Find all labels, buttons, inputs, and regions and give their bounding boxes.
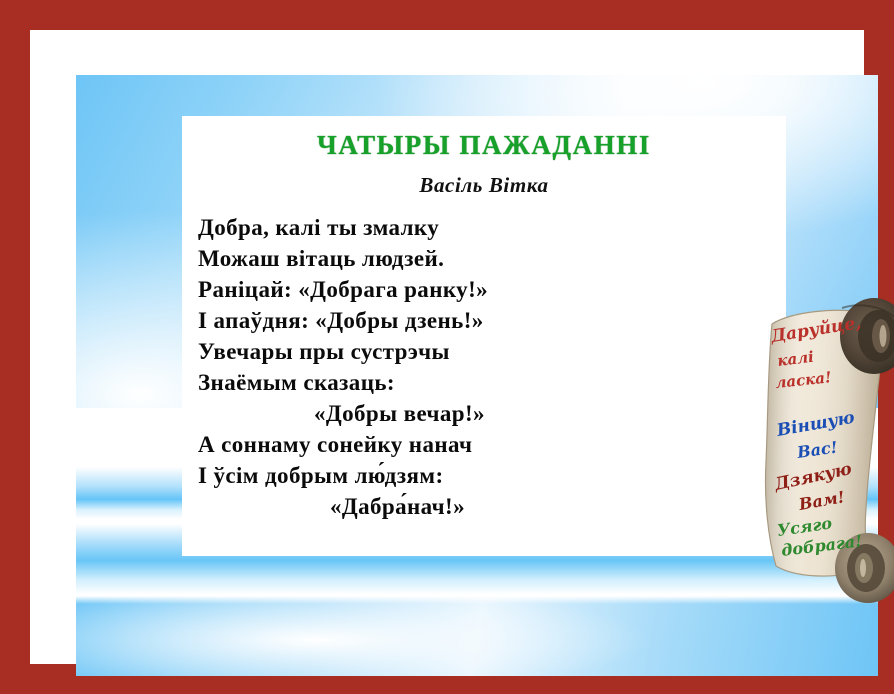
author-name: Васіль Вітка [182, 173, 786, 198]
poem-line: І апаўдня: «Добры дзень!» [198, 305, 618, 336]
outer-red-border: ЧАТЫРЫ ПАЖАДАННІ Васіль Вітка Добра, кал… [0, 0, 894, 694]
poem-line: Раніцай: «Добрага ранку!» [198, 274, 618, 305]
poem-text: Добра, калі ты змалку Можаш вітаць людзе… [198, 212, 618, 522]
poem-line: Можаш вітаць людзей. [198, 243, 618, 274]
poem-line: «Добры вечар!» [198, 398, 618, 429]
inner-white-margin: ЧАТЫРЫ ПАЖАДАННІ Васіль Вітка Добра, кал… [30, 30, 864, 664]
poem-card: ЧАТЫРЫ ПАЖАДАННІ Васіль Вітка Добра, кал… [182, 116, 786, 556]
poem-line: І ўсім добрым лю́дзям: [198, 460, 618, 491]
poem-line: Знаёмым сказаць: [198, 367, 618, 398]
poem-line: «Дабра́нач!» [198, 491, 618, 522]
scroll-illustration: Даруйце, калі ласка! Віншую Вас! Дзякую … [742, 294, 894, 614]
page-title: ЧАТЫРЫ ПАЖАДАННІ [182, 130, 786, 161]
poem-line: Увечары пры сустрэчы [198, 336, 618, 367]
poem-line: А соннаму сонейку нанач [198, 429, 618, 460]
poem-line: Добра, калі ты змалку [198, 212, 618, 243]
